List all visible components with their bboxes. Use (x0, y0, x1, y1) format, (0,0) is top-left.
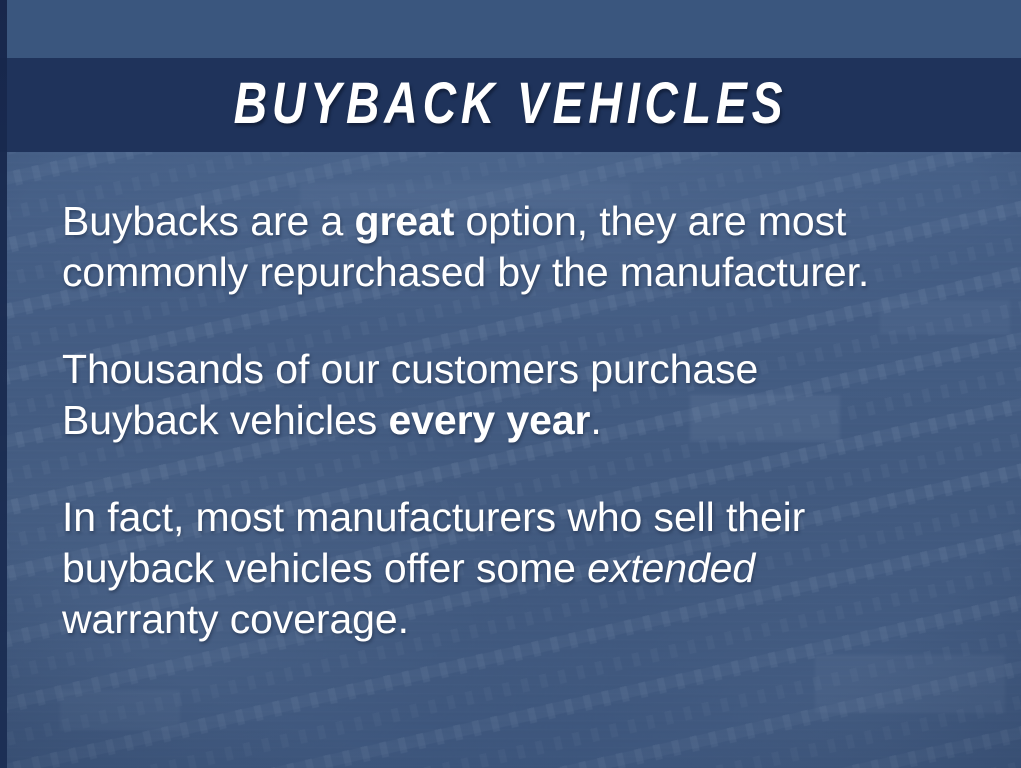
paragraph-3-text-a: buyback vehicles offer some (62, 545, 587, 591)
page-title: BUYBACK VEHICLES (102, 58, 919, 152)
left-edge-strip (0, 0, 7, 768)
paragraph-2: Thousands of our customers purchase Buyb… (62, 344, 992, 446)
paragraph-3-line-1: In fact, most manufacturers who sell the… (62, 492, 992, 543)
paragraph-3-line-3: warranty coverage. (62, 594, 992, 645)
paragraph-1-line-2: commonly repurchased by the manufacturer… (62, 247, 992, 298)
paragraph-3-line-2: buyback vehicles offer some extended (62, 543, 992, 594)
paragraph-1-text-a: Buybacks are a (62, 198, 355, 244)
paragraph-2-line-1: Thousands of our customers purchase (62, 344, 992, 395)
paragraph-1-emphasis-great: great (355, 198, 455, 244)
paragraph-2-text-a: Buyback vehicles (62, 397, 388, 443)
paragraph-1: Buybacks are a great option, they are mo… (62, 196, 992, 298)
slide-canvas: BUYBACK VEHICLES Buybacks are a great op… (0, 0, 1021, 768)
header-top-band (0, 0, 1021, 58)
paragraph-3: In fact, most manufacturers who sell the… (62, 492, 992, 645)
paragraph-3-emphasis-extended: extended (587, 545, 755, 591)
paragraph-2-emphasis-every-year: every year (388, 397, 590, 443)
paragraph-2-line-2: Buyback vehicles every year. (62, 395, 992, 446)
body-copy: Buybacks are a great option, they are mo… (62, 196, 992, 645)
paragraph-1-text-b: option, they are most (454, 198, 846, 244)
paragraph-2-text-b: . (590, 397, 601, 443)
paragraph-1-line-1: Buybacks are a great option, they are mo… (62, 196, 992, 247)
